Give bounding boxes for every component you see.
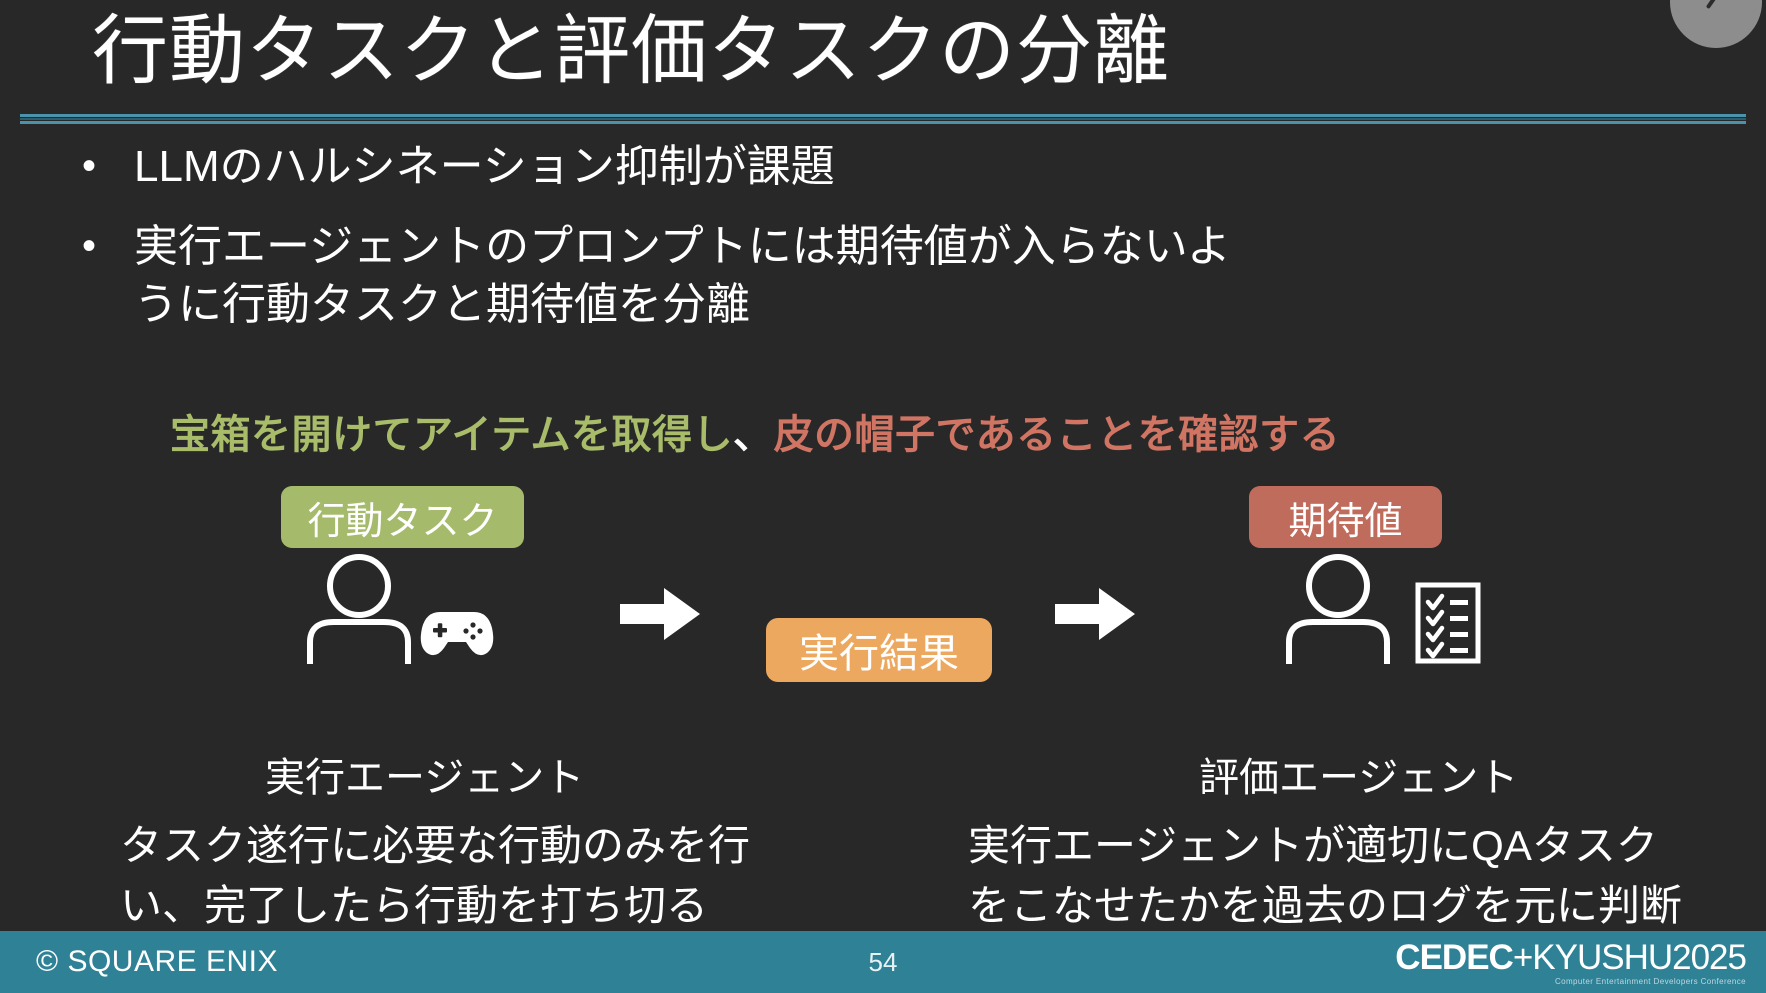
cedec-kyushu-logo: CEDEC +KYUSHU2025 Computer Entertainment… xyxy=(1394,939,1746,987)
video-control-circle-icon[interactable] xyxy=(1670,0,1762,48)
example-expectation-text: 皮の帽子であることを確認する xyxy=(774,413,1341,457)
gamepad-icon xyxy=(418,604,496,665)
title-divider xyxy=(20,114,1746,123)
right-agent-description: 実行エージェントが適切にQAタスク をこなせたかを過去のログを元に判断 xyxy=(968,816,1758,935)
left-agent-label: 実行エージェント xyxy=(265,745,584,803)
bullet-text: LLMのハルシネーション抑制が課題 xyxy=(134,138,1722,196)
tag-action-task: 行動タスク xyxy=(281,486,524,548)
arrow-right-1-icon xyxy=(620,586,700,642)
example-action-text: 宝箱を開けてアイテムを取得し xyxy=(170,413,733,457)
right-agent-label: 評価エージェント xyxy=(1199,745,1518,803)
bullet-list: • LLMのハルシネーション抑制が課題 • 実行エージェントのプロンプトには期待… xyxy=(82,138,1722,334)
tag-expected-value: 期待値 xyxy=(1249,486,1442,548)
logo-subtitle: Computer Entertainment Developers Confer… xyxy=(1555,977,1746,986)
example-sentence: 宝箱を開けてアイテムを取得し、皮の帽子であることを確認する xyxy=(170,402,1340,460)
bullet-marker-icon: • xyxy=(82,138,134,195)
list-item: • 実行エージェントのプロンプトには期待値が入らないよ うに行動タスクと期待値を… xyxy=(82,218,1722,334)
agent-flow-diagram xyxy=(0,560,1766,760)
example-separator: 、 xyxy=(733,413,774,457)
logo-text-kyushu: +KYUSHU2025 xyxy=(1513,940,1746,975)
footer-bar: © SQUARE ENIX 54 CEDEC +KYUSHU2025 Compu… xyxy=(0,931,1766,993)
bullet-marker-icon: • xyxy=(82,218,134,275)
left-agent-description: タスク遂行に必要な行動のみを行 い、完了したら行動を打ち切る xyxy=(120,816,820,935)
bullet-text: 実行エージェントのプロンプトには期待値が入らないよ うに行動タスクと期待値を分離 xyxy=(134,218,1722,334)
slide-root: 行動タスクと評価タスクの分離 • LLMのハルシネーション抑制が課題 • 実行エ… xyxy=(0,0,1766,993)
clock-hand-icon xyxy=(1706,0,1722,9)
logo-text-cedec: CEDEC xyxy=(1395,940,1513,975)
list-item: • LLMのハルシネーション抑制が課題 xyxy=(82,138,1722,196)
person-icon xyxy=(1283,554,1393,664)
arrow-right-2-icon xyxy=(1055,586,1135,642)
page-title: 行動タスクと評価タスクの分離 xyxy=(92,6,1170,99)
checklist-icon xyxy=(1415,582,1481,669)
person-icon xyxy=(304,554,414,664)
